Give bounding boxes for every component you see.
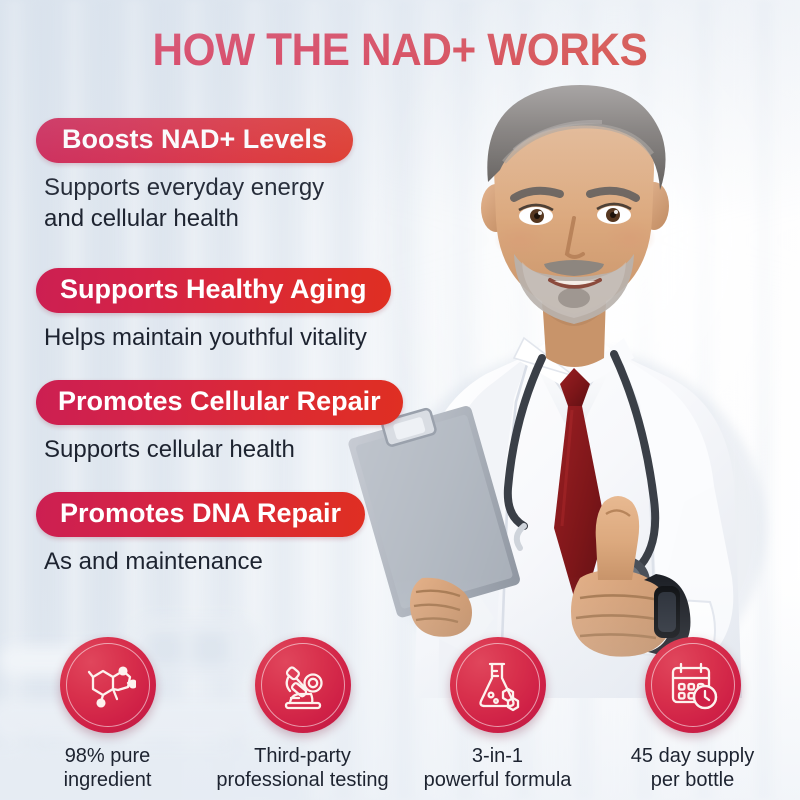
badge-label: 98% pure ingredient — [64, 744, 152, 792]
infographic-canvas: HOW THE NAD+ WORKS Boosts NAD+ Levels Su… — [0, 0, 800, 800]
badge-label: 3-in-1 powerful formula — [424, 744, 572, 792]
badge-circle — [645, 637, 741, 733]
badge-label: 45 day supply per bottle — [631, 744, 754, 792]
flask-icon — [470, 657, 526, 713]
badge-label: Third-party professional testing — [216, 744, 388, 792]
feature-badge: 45 day supply per bottle — [605, 637, 780, 792]
molecule-icon — [80, 657, 136, 713]
feature-badge: 98% pure ingredient — [20, 637, 195, 792]
feature-badge-row: 98% pure ingredient Third-party professi… — [0, 637, 800, 792]
calendar-clock-icon — [665, 657, 721, 713]
badge-circle — [60, 637, 156, 733]
microscope-icon — [275, 657, 331, 713]
feature-badge: 3-in-1 powerful formula — [410, 637, 585, 792]
badge-circle — [450, 637, 546, 733]
badge-circle — [255, 637, 351, 733]
feature-badge: Third-party professional testing — [215, 637, 390, 792]
